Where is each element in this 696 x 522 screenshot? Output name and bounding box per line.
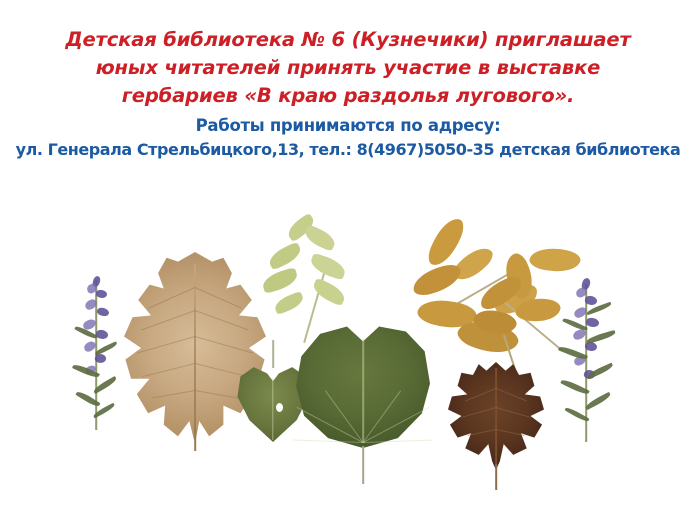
leaf-hole — [276, 403, 283, 412]
leaflet — [272, 291, 305, 315]
leaflet — [302, 224, 338, 252]
address-intro-line: Работы принимаются по адресу: — [0, 114, 696, 138]
petiole — [362, 446, 364, 484]
petiole — [194, 429, 196, 451]
specimen-oak-leaf-brown — [448, 362, 544, 470]
headline-block: Детская библиотека № 6 (Кузнечики) пригл… — [0, 26, 696, 110]
poster-canvas: Детская библиотека № 6 (Кузнечики) пригл… — [0, 0, 696, 522]
leaflet — [266, 241, 304, 270]
specimen-veronica-spike-right — [560, 276, 616, 444]
leaflet — [308, 252, 348, 280]
floret — [95, 288, 108, 299]
headline-line-2: юных читателей принять участие в выставк… — [0, 54, 696, 82]
leaflet — [528, 243, 582, 277]
headline-line-3: гербариев «В краю раздолья лугового». — [0, 82, 696, 110]
midvein — [362, 339, 364, 443]
midrib — [194, 264, 196, 441]
floret — [96, 306, 110, 318]
leaflet — [260, 267, 299, 294]
petiole — [272, 340, 274, 368]
leaf — [562, 317, 588, 333]
leaf — [586, 330, 616, 344]
petiole — [495, 464, 497, 490]
leaf — [558, 345, 588, 362]
address-detail-line: ул. Генерала Стрельбицкого,13, тел.: 8(4… — [0, 138, 696, 162]
leaf — [94, 341, 118, 355]
herbarium-photo — [0, 190, 696, 460]
subtext-block: Работы принимаются по адресу: ул. Генера… — [0, 114, 696, 162]
specimen-veronica-spike-left — [72, 270, 118, 430]
leaflet — [515, 295, 562, 325]
leaflet — [410, 262, 464, 297]
leaf — [584, 392, 612, 410]
midvein — [272, 378, 273, 440]
floret — [95, 328, 109, 341]
headline-line-1: Детская библиотека № 6 (Кузнечики) пригл… — [0, 26, 696, 54]
midrib — [495, 368, 497, 465]
